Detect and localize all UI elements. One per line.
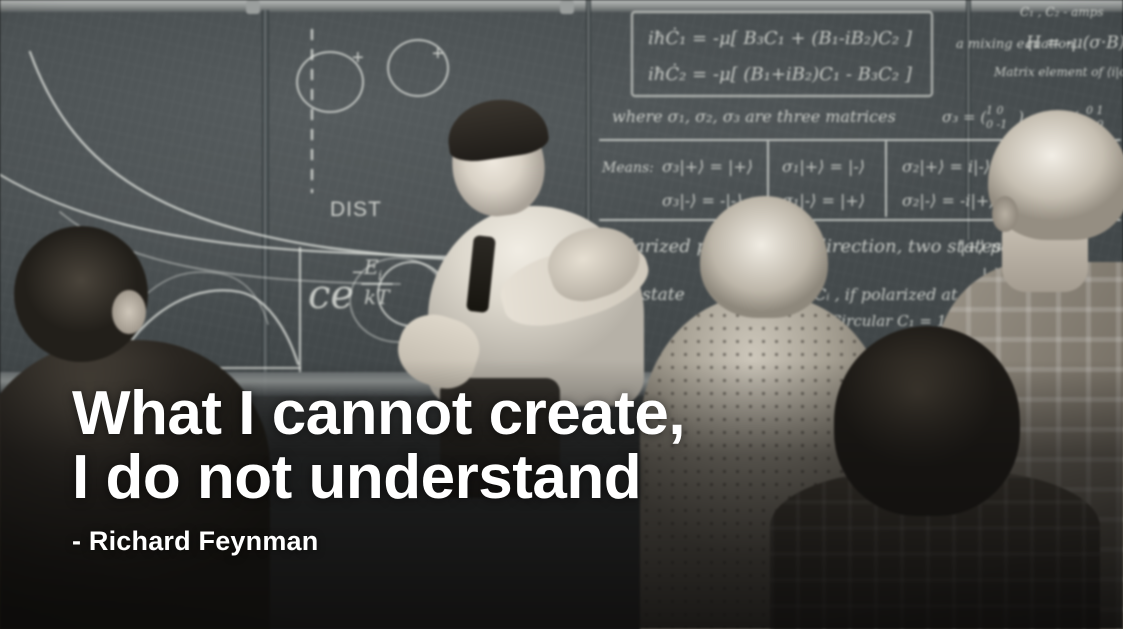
- quote-attribution: - Richard Feynman: [72, 526, 772, 557]
- quote-line-1: What I cannot create,: [72, 382, 772, 446]
- quote-block: What I cannot create, I do not understan…: [72, 382, 772, 557]
- quote-card: DIST ce – E i kT + + + iħĊ₁ = -μ[ B₃C₁ …: [0, 0, 1123, 629]
- quote-line-2: I do not understand: [72, 446, 772, 510]
